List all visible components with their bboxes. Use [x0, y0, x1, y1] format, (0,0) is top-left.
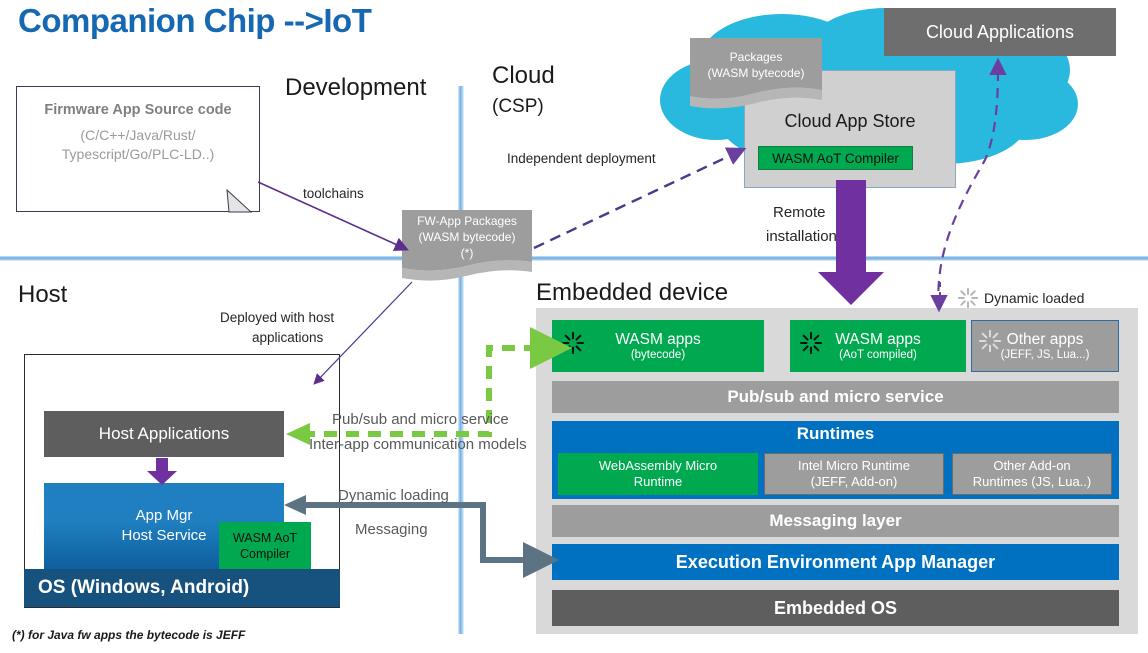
- interapp-green-arrow-left: [286, 423, 310, 445]
- label-dynamic-loading: Dynamic loading: [338, 487, 449, 504]
- label-remote-installation-1: Remote: [773, 204, 826, 221]
- label-toolchains: toolchains: [303, 186, 364, 201]
- connector-overlay: [0, 0, 1148, 653]
- footnote: (*) for Java fw apps the bytecode is JEF…: [12, 628, 245, 642]
- label-independent-deployment: Independent deployment: [507, 151, 656, 166]
- label-inter-app-models: Inter-app communication models: [309, 436, 527, 453]
- deployed-with-host-arrow: [315, 282, 412, 383]
- dynamic-loading-arrow-left: [284, 495, 306, 515]
- label-pubsub-micro-service: Pub/sub and micro service: [332, 411, 509, 428]
- dynamic-loaded-tick-icon: [935, 282, 947, 310]
- label-messaging: Messaging: [355, 521, 428, 538]
- label-remote-installation-2: installation: [766, 228, 837, 245]
- dynamic-loaded-burst-icon: [958, 288, 978, 308]
- label-deployed-with-host-1: Deployed with host: [220, 310, 334, 325]
- label-dynamic-loaded: Dynamic loaded: [984, 290, 1084, 306]
- label-deployed-with-host-2: applications: [252, 330, 323, 345]
- cloud-apps-link-arrow: [938, 62, 998, 308]
